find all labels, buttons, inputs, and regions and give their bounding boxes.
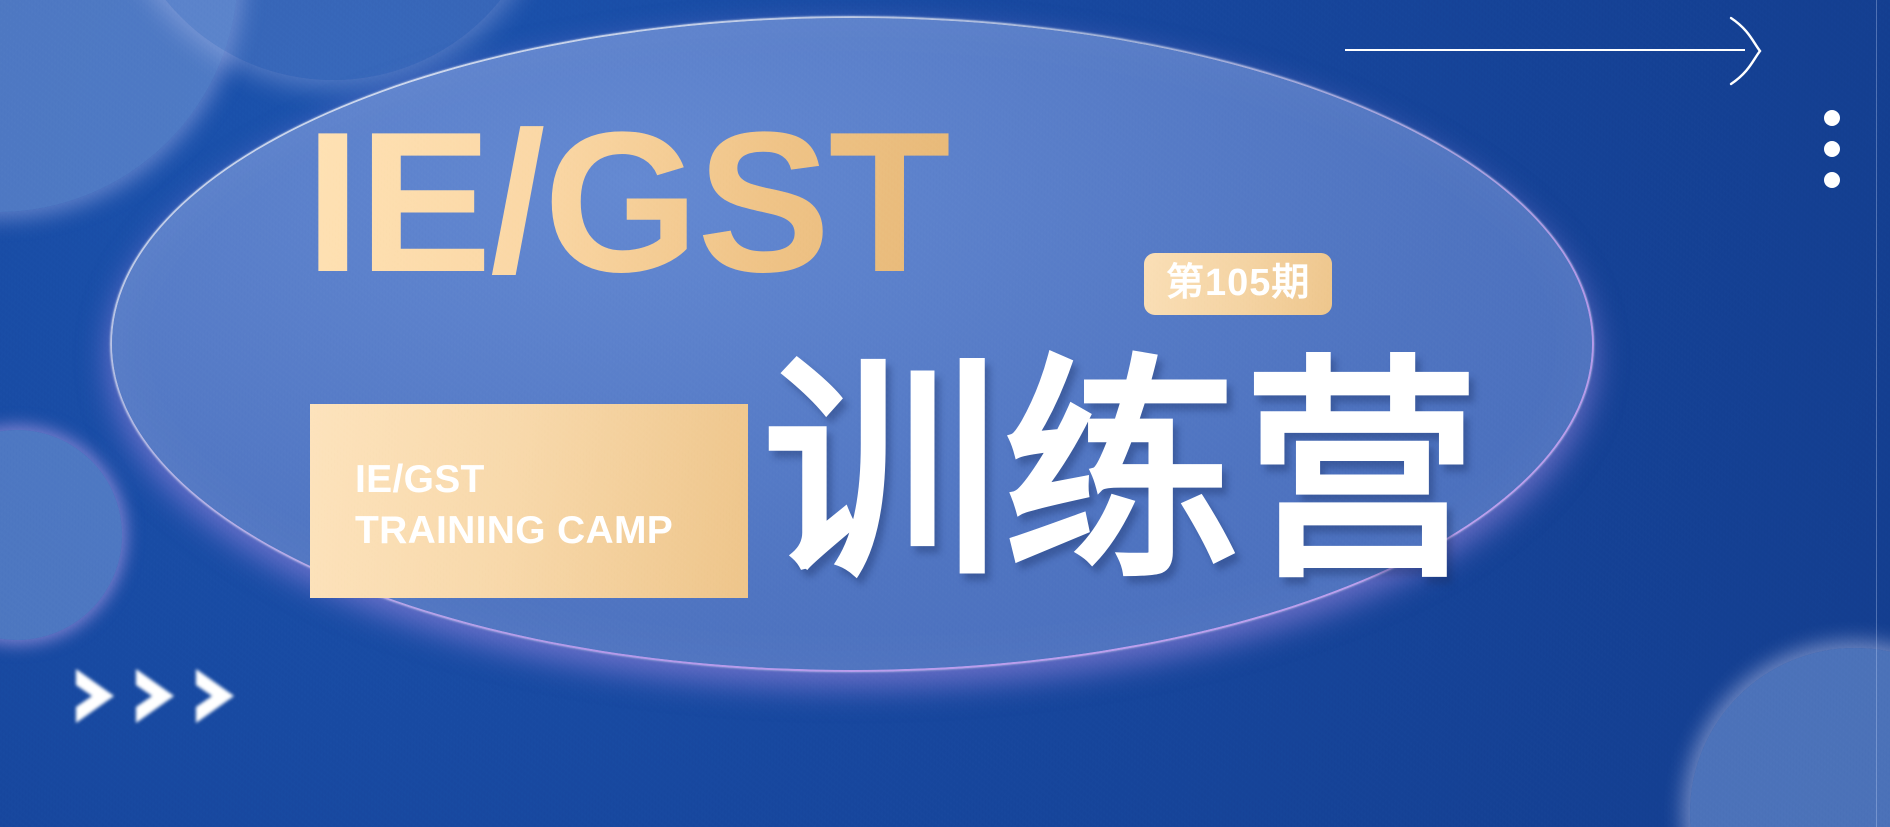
training-camp-label: IE/GST TRAINING CAMP [355, 454, 673, 557]
training-camp-box: IE/GST TRAINING CAMP [310, 404, 748, 598]
decor-circle-left [0, 430, 122, 640]
dot-icon [1824, 110, 1840, 126]
promo-banner: IE/GST TRAINING CAMP IE/GST 第105期 训练营 [0, 0, 1890, 827]
decor-circle-bottom-right [1690, 648, 1890, 827]
right-edge-rule [1876, 0, 1877, 827]
chevrons-group [70, 665, 244, 727]
chevron-right-icon [130, 665, 184, 727]
arrow-line [1345, 49, 1745, 51]
chinese-subtitle: 训练营 [763, 355, 1483, 591]
arrow-right-icon [1727, 14, 1763, 88]
training-camp-label-line2: TRAINING CAMP [355, 505, 673, 556]
dots-indicator [1824, 110, 1840, 203]
dot-icon [1824, 172, 1840, 188]
chevron-right-icon [70, 665, 124, 727]
training-camp-label-line1: IE/GST [355, 454, 673, 505]
headline-title: IE/GST [305, 103, 949, 303]
dot-icon [1824, 141, 1840, 157]
chevron-right-icon [190, 665, 244, 727]
issue-number-badge: 第105期 [1144, 253, 1332, 315]
